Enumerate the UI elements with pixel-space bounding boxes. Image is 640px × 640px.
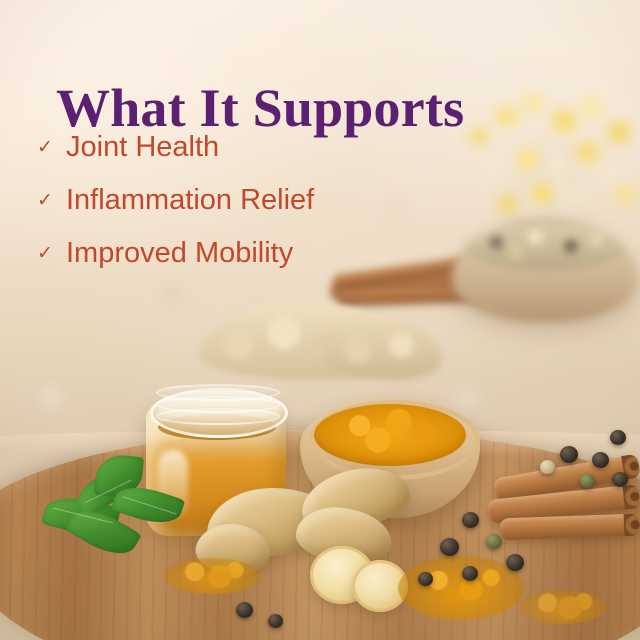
peppercorn-image	[236, 602, 253, 618]
peppercorn-image	[560, 446, 578, 463]
check-icon: ✓	[36, 138, 54, 157]
peppercorn-image	[612, 472, 628, 487]
benefits-list: ✓ Joint Health ✓ Inflammation Relief ✓ I…	[36, 133, 314, 268]
peppercorn-image	[610, 430, 626, 445]
peppercorn-image	[462, 512, 479, 528]
peppercorn-image	[418, 572, 433, 586]
peppercorn-pale-image	[540, 460, 555, 474]
benefit-label: Improved Mobility	[66, 239, 293, 268]
check-icon: ✓	[36, 244, 54, 263]
list-item: ✓ Improved Mobility	[36, 239, 314, 268]
peppercorn-image	[268, 614, 283, 628]
peppercorn-green-image	[580, 474, 595, 488]
benefit-label: Inflammation Relief	[66, 186, 314, 215]
list-item: ✓ Joint Health	[36, 133, 314, 162]
peppercorn-image	[462, 566, 478, 581]
peppercorn-image	[592, 452, 609, 468]
turmeric-powder-scatter-right-image	[520, 590, 606, 624]
page-title: What It Supports	[56, 80, 464, 136]
peppercorn-green-image	[486, 534, 502, 549]
turmeric-powder-pile-image	[398, 556, 524, 620]
mixed-spice-bowl-image	[452, 218, 638, 322]
peppercorn-image	[440, 538, 459, 556]
benefit-label: Joint Health	[66, 133, 219, 162]
check-icon: ✓	[36, 191, 54, 210]
list-item: ✓ Inflammation Relief	[36, 186, 314, 215]
turmeric-powder-scatter-image	[164, 558, 260, 594]
supplement-benefits-poster: What It Supports ✓ Joint Health ✓ Inflam…	[0, 0, 640, 640]
peppercorn-image	[506, 554, 524, 571]
mint-sprig-image	[40, 455, 200, 565]
